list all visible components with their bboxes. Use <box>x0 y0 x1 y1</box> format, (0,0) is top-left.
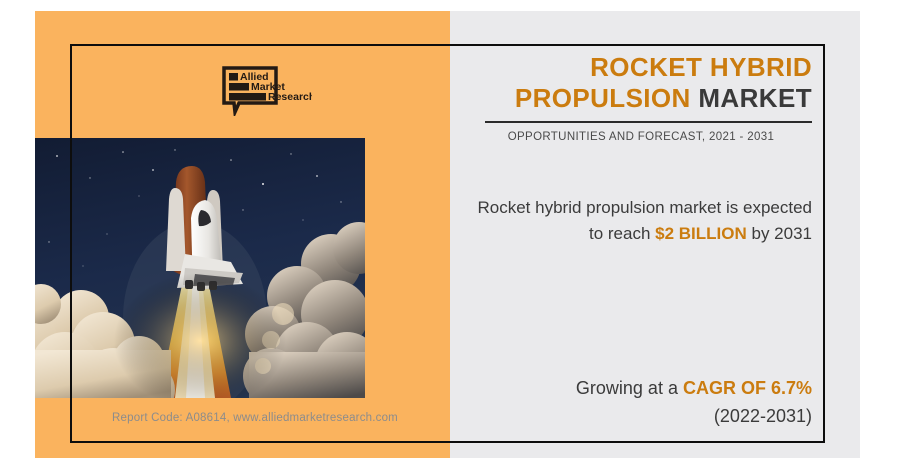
cagr-years: (2022-2031) <box>470 403 812 431</box>
cagr-prefix: Growing at a <box>576 378 683 398</box>
infographic-canvas: Allied Market Research <box>0 0 898 470</box>
title-plain-word: MARKET <box>698 83 812 113</box>
page-title: ROCKET HYBRID PROPULSION MARKET <box>470 52 812 113</box>
title-accent-line1: ROCKET HYBRID <box>590 52 812 82</box>
cagr-highlight: CAGR OF 6.7% <box>683 378 812 398</box>
allied-market-research-logo: Allied Market Research <box>222 66 312 116</box>
rocket-launch-photo <box>35 138 365 398</box>
statement-suffix: by 2031 <box>747 224 812 243</box>
report-subtitle: OPPORTUNITIES AND FORECAST, 2021 - 2031 <box>470 131 812 143</box>
svg-text:Research: Research <box>268 91 312 103</box>
title-accent-line2: PROPULSION <box>515 83 691 113</box>
report-headline-block: ROCKET HYBRID PROPULSION MARKET <box>470 52 812 113</box>
title-divider <box>485 121 812 123</box>
report-code-caption: Report Code: A08614, www.alliedmarketres… <box>70 412 440 424</box>
cagr-statement: Growing at a CAGR OF 6.7% (2022-2031) <box>470 375 812 431</box>
market-value-statement: Rocket hybrid propulsion market is expec… <box>470 195 812 247</box>
market-value-highlight: $2 BILLION <box>655 224 747 243</box>
